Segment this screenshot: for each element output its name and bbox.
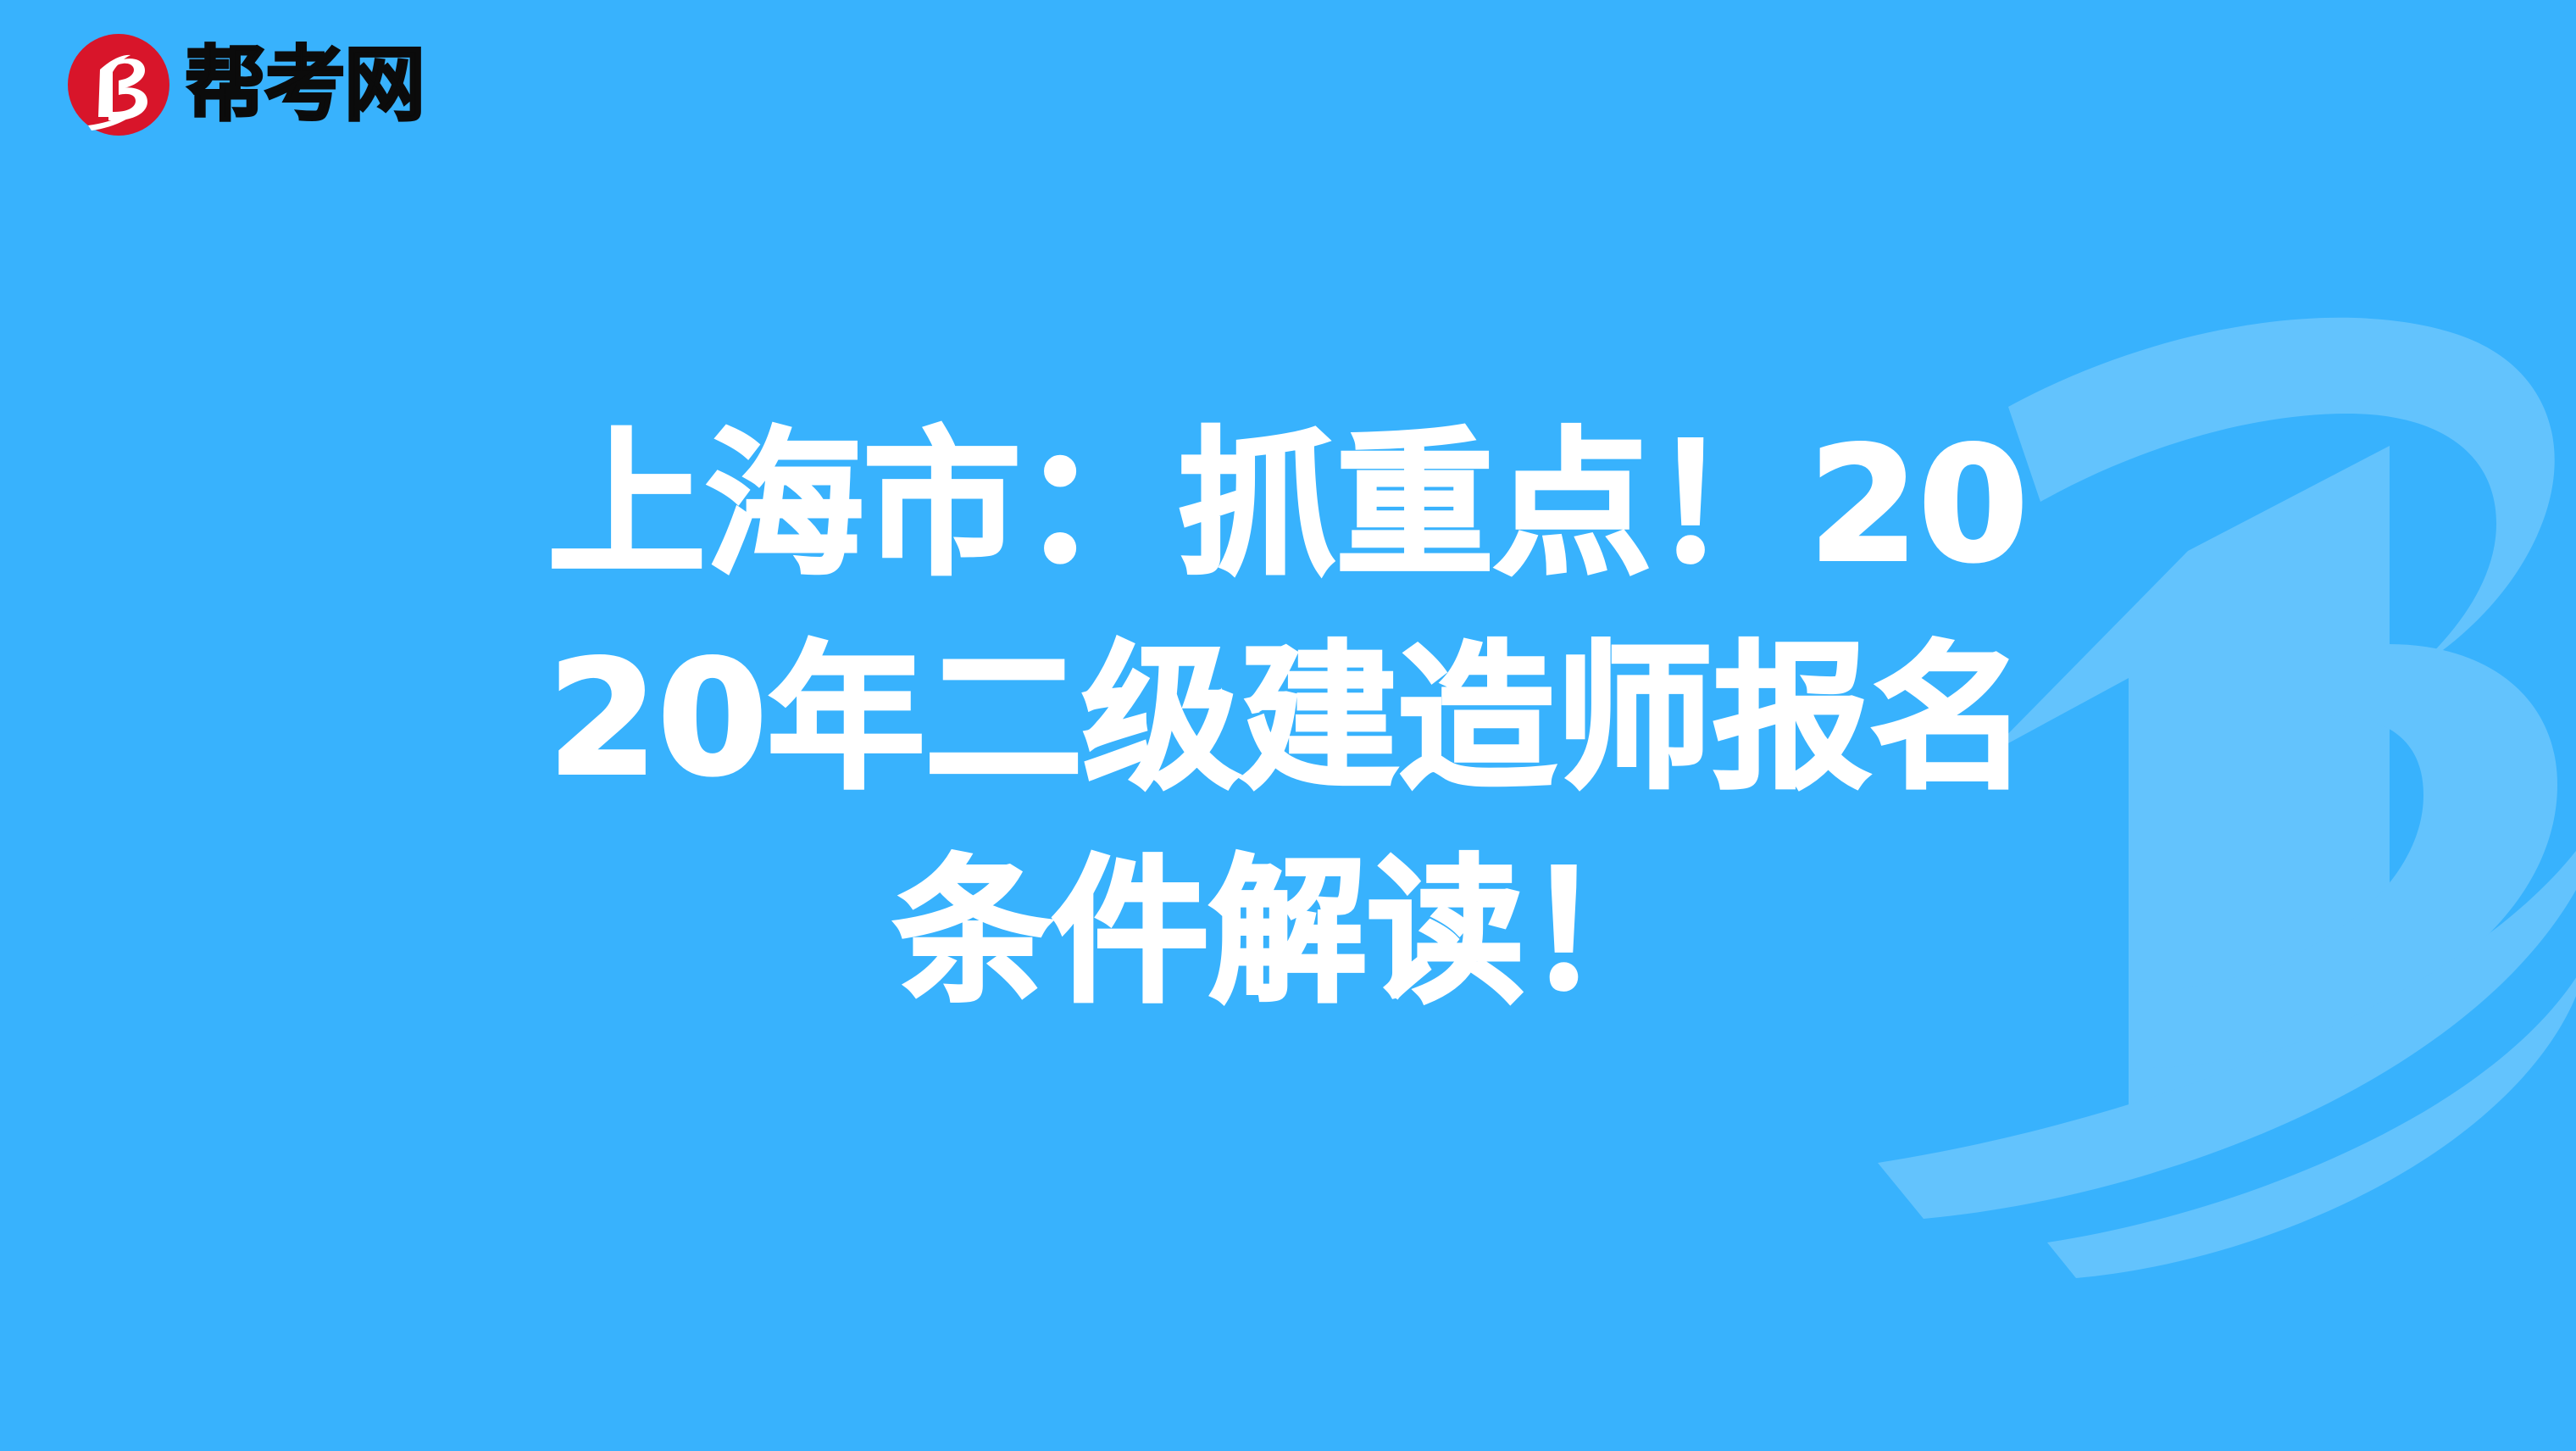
logo-wordmark: 帮考网: [185, 44, 424, 125]
headline-line: 条件解读！: [441, 826, 2135, 1039]
site-logo[interactable]: 帮考网: [66, 32, 424, 137]
logo-badge-b-icon: [66, 32, 171, 137]
headline: 上海市：抓重点！20 20年二级建造师报名 条件解读！: [441, 398, 2135, 1039]
headline-line: 20年二级建造师报名: [441, 612, 2135, 826]
headline-line: 上海市：抓重点！20: [441, 398, 2135, 612]
banner-canvas: 帮考网 上海市：抓重点！20 20年二级建造师报名 条件解读！: [0, 0, 2576, 1451]
